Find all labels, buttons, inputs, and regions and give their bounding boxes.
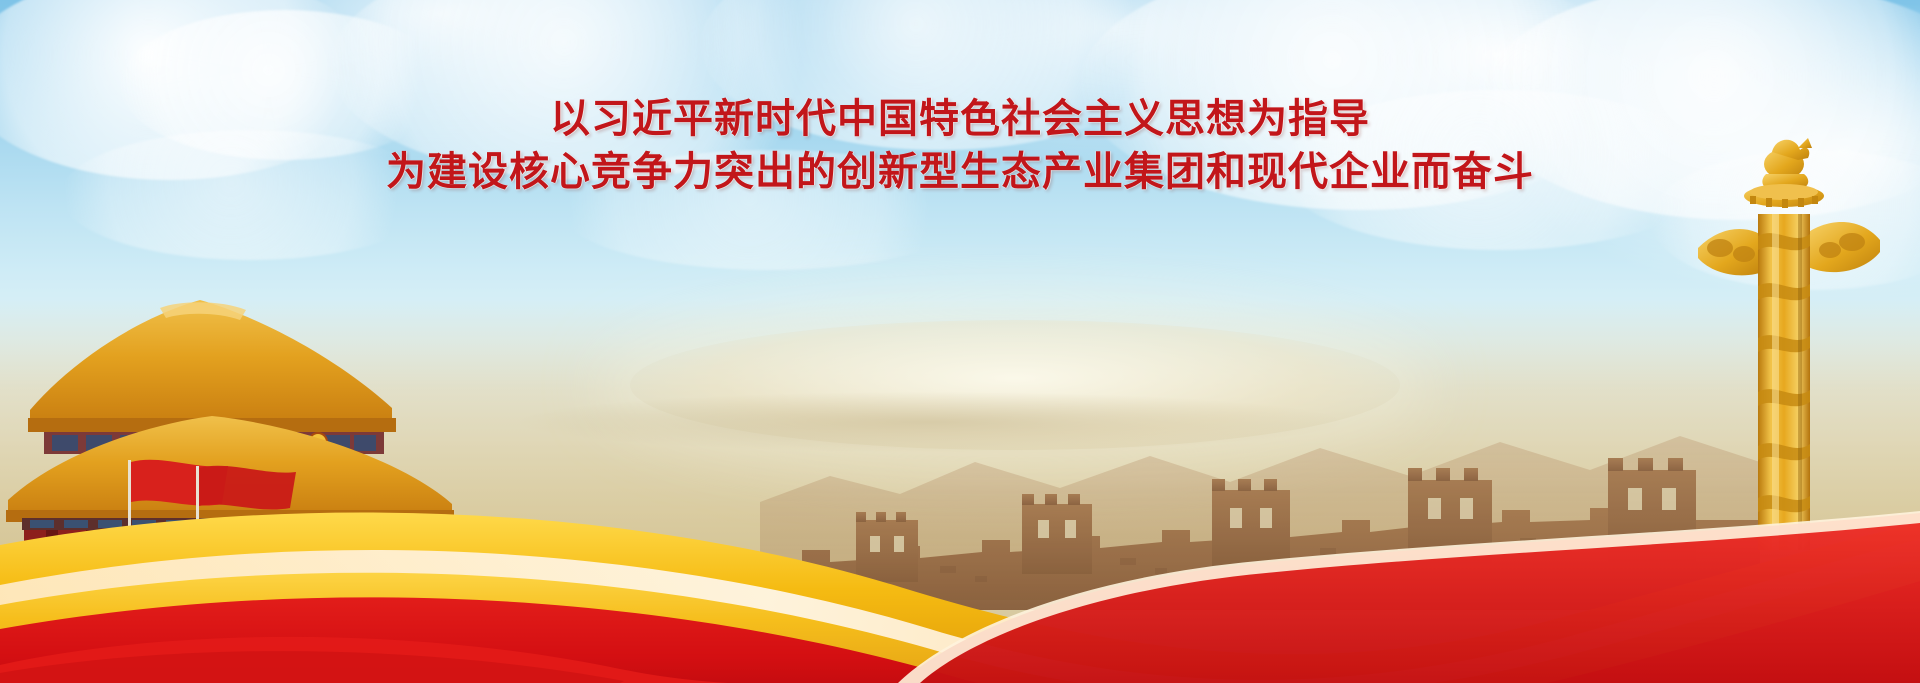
red-ribbon-icon: [0, 483, 1920, 683]
patriotic-banner: 中华人民共和国万岁 世界人民大团结万岁: [0, 0, 1920, 683]
